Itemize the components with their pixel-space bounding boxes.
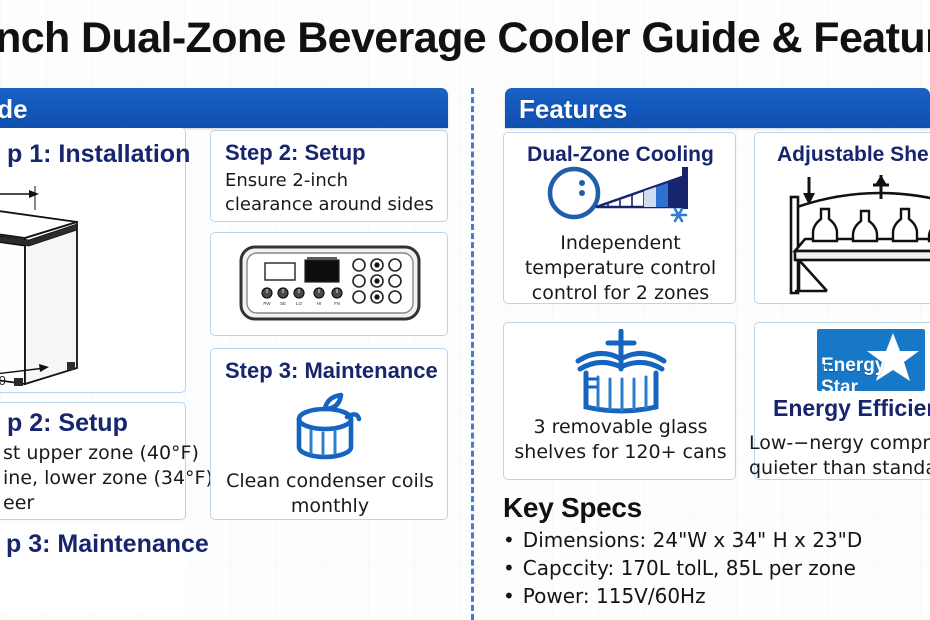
card-step-2-setup-left: p 2: Setup st upper zone (40°F)ine, lowe… <box>0 402 186 520</box>
card-adjustable-shelves: Adjustable Shelv <box>754 132 930 304</box>
text-line: quieter than standard r <box>749 456 930 481</box>
energy-efficient-title: Energy Efficien <box>773 395 930 422</box>
column-divider <box>471 88 474 620</box>
guide-section-header: ide <box>0 88 448 128</box>
features-section-header: Features <box>505 88 930 128</box>
key-spec-item: Dimensions: 24"W x 34" H x 23"D <box>503 526 930 554</box>
card-step-2-left-body: st upper zone (40°F)ine, lower zone (34°… <box>3 441 233 516</box>
key-specs-title: Key Specs <box>503 492 930 524</box>
svg-text:SE: SE <box>280 301 286 306</box>
cleaning-can-icon <box>275 387 385 469</box>
text-line: ine, lower zone (34°F) <box>3 466 233 491</box>
key-specs-list: Dimensions: 24"W x 34" H x 23"DCapccity:… <box>503 526 930 610</box>
card-step-3-title: Step 3: Maintenance <box>225 358 438 384</box>
text-line: Low-−nergy compresso <box>749 431 930 456</box>
card-step-1-title: p 1: Installation <box>7 140 190 169</box>
energy-star-badge: Energy Star n <box>817 329 925 391</box>
shelf-bottles-icon <box>769 173 930 301</box>
card-dual-zone-cooling: Dual-Zone Cooling Ind <box>503 132 736 304</box>
thermometer-gradient-icon <box>544 161 704 233</box>
card-control-panel: PWSELO HIFN <box>210 232 448 336</box>
energy-efficient-body: Low-−nergy compressoquieter than standar… <box>749 431 930 481</box>
card-step-3-maintenance-left: p 3: Maintenance <box>0 524 186 614</box>
card-step-2-setup: Step 2: Setup Ensure 2-inch clearance ar… <box>210 130 448 222</box>
card-step-1-installation: p 1: Installation 510 <box>0 128 186 393</box>
svg-text:FN: FN <box>334 301 340 306</box>
key-spec-item: Capccity: 170L tolL, 85L per zone <box>503 554 930 582</box>
card-step-2-body: Ensure 2-inch clearance around sides <box>225 169 440 217</box>
guide-section-header-label: ide <box>0 94 28 125</box>
key-spec-item: Power: 115V/60Hz <box>503 582 930 610</box>
card-step-2-title: Step 2: Setup <box>225 140 366 166</box>
card-step-2-left-title: p 2: Setup <box>7 409 128 438</box>
card-energy-efficient: Energy Star n Energy Efficien Low-−nergy… <box>754 322 930 480</box>
dual-zone-body: Independent temperature control control … <box>504 231 737 306</box>
text-line: st upper zone (40°F) <box>3 441 233 466</box>
adjustable-shelves-title: Adjustable Shelv <box>777 143 930 167</box>
text-line: eer <box>3 491 233 516</box>
control-panel-illustration: PWSELO HIFN <box>211 233 449 337</box>
glass-shelves-icon <box>566 329 676 415</box>
key-specs-section: Key Specs Dimensions: 24"W x 34" H x 23"… <box>503 492 930 610</box>
cooler-line-drawing: 510 500 700 <box>0 172 187 387</box>
card-step-3-body: Clean condenser coils monthly <box>211 469 449 519</box>
svg-text:HI: HI <box>317 301 322 306</box>
glass-shelves-body: 3 removable glass shelves for 120+ cans <box>504 415 737 465</box>
svg-text:LO: LO <box>296 301 303 306</box>
card-step-3-maintenance: Step 3: Maintenance Clean condenser coil… <box>210 348 448 520</box>
svg-text:PW: PW <box>263 301 271 306</box>
card-step-3-left-title: p 3: Maintenance <box>6 530 209 559</box>
features-section-header-label: Features <box>519 94 627 125</box>
energy-star-badge-text: Energy Star <box>821 355 925 391</box>
card-glass-shelves: 3 removable glass shelves for 120+ cans <box>503 322 736 480</box>
svg-text:500: 500 <box>0 373 6 387</box>
page-title: -Inch Dual-Zone Beverage Cooler Guide & … <box>0 14 930 63</box>
